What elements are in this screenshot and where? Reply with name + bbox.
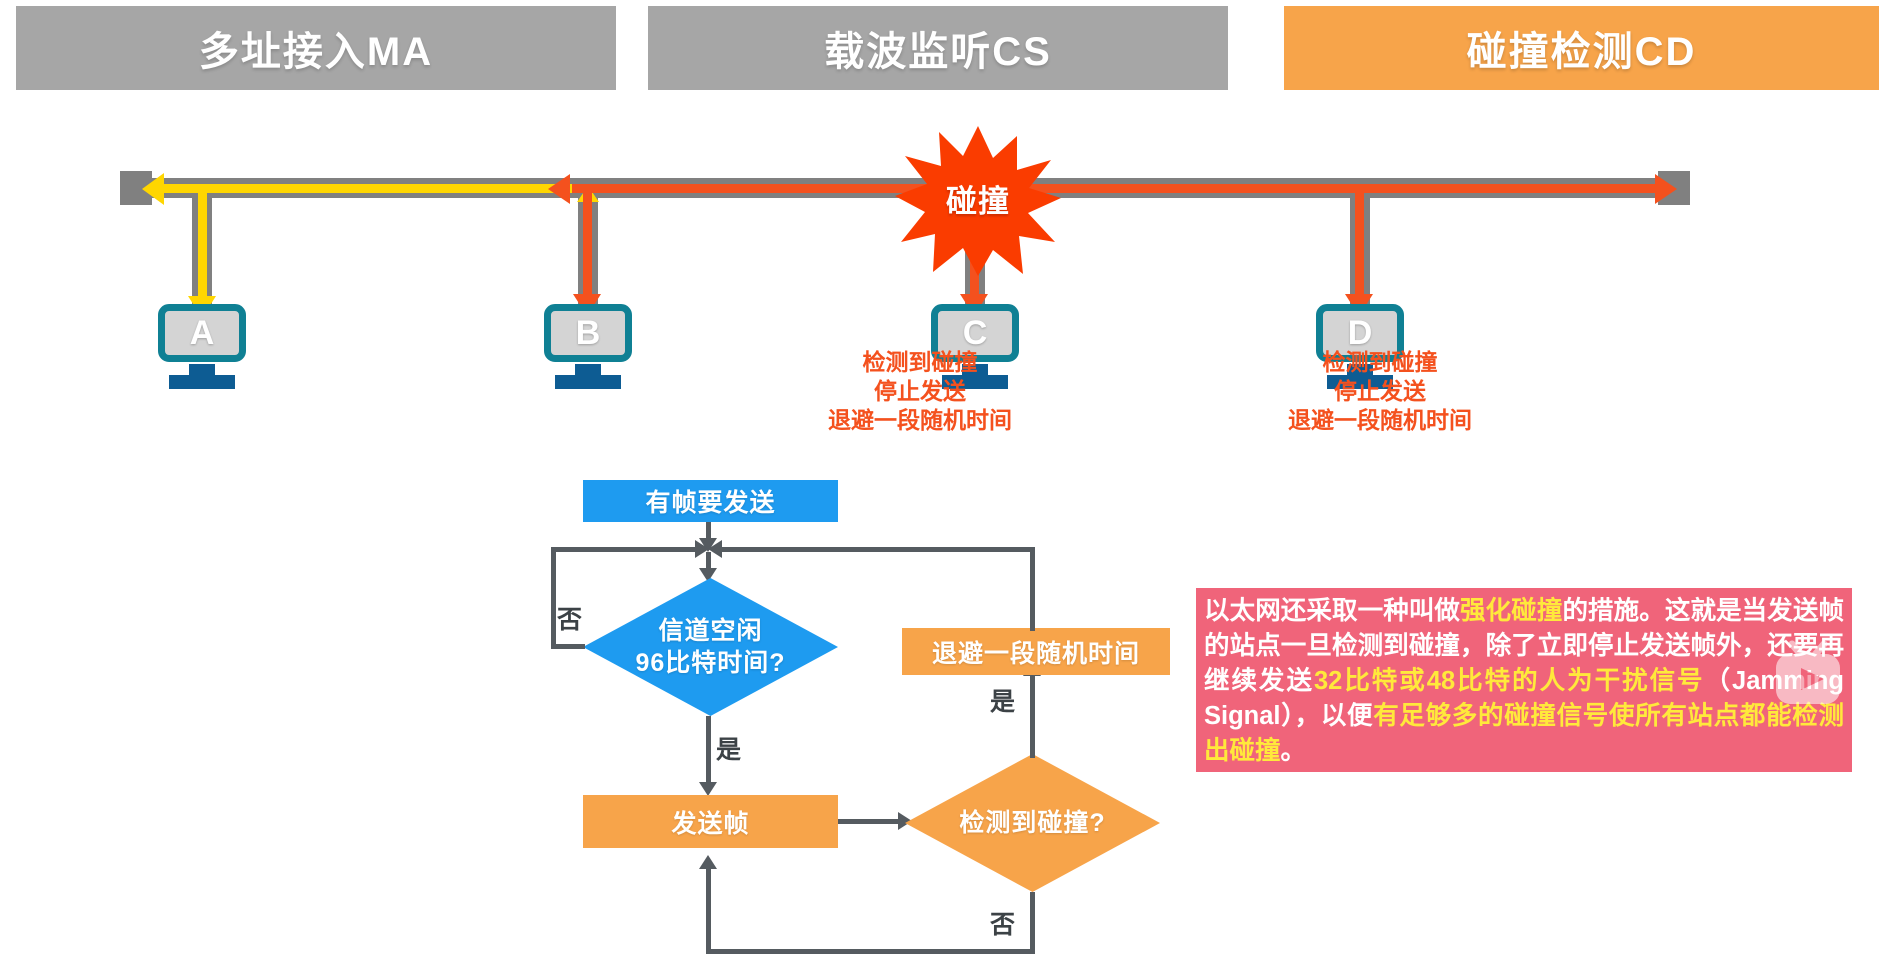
annotation-right-line-3: 退避一段随机时间	[1230, 406, 1530, 435]
flow-conn-backoff-up	[1030, 547, 1035, 631]
collision-label: 碰撞	[895, 176, 1061, 221]
flow-arrow-back-to-send	[699, 855, 717, 869]
flow-conn-no-collision-bottom	[706, 949, 1035, 954]
annotation-left-line-1: 检测到碰撞	[770, 348, 1070, 377]
flow-conn-collision-up	[1030, 672, 1035, 758]
flow-conn-send-right	[838, 819, 903, 824]
collision-burst: 碰撞	[895, 126, 1061, 276]
station-b[interactable]: B	[544, 304, 632, 389]
flow-label-yes-collision: 是	[990, 682, 1015, 718]
flow-arrow-backoff-rejoin	[708, 540, 722, 558]
flow-decision-collision[interactable]: 检测到碰撞?	[905, 754, 1160, 892]
info-seg-3-highlight: 32比特或48比特的人为干扰信号	[1314, 667, 1705, 695]
info-panel-paragraph: 以太网还采取一种叫做强化碰撞的措施。这就是当发送帧的站点一旦检测到碰撞，除了立即…	[1204, 594, 1844, 769]
annotation-left-line-2: 停止发送	[770, 377, 1070, 406]
flow-conn-backoff-top	[716, 547, 1035, 552]
flow-backoff-box[interactable]: 退避一段随机时间	[902, 628, 1170, 675]
annotation-right-line-2: 停止发送	[1230, 377, 1530, 406]
flow-start-box[interactable]: 有帧要发送	[583, 480, 838, 522]
station-a-label: A	[190, 314, 215, 353]
flow-conn-no-collision-down	[1030, 892, 1035, 954]
flow-conn-no-up	[551, 547, 556, 649]
station-a-neck	[189, 364, 215, 375]
flow-conn-no-top	[551, 547, 701, 552]
annotation-right: 检测到碰撞 停止发送 退避一段随机时间	[1230, 348, 1530, 435]
annotation-right-line-1: 检测到碰撞	[1230, 348, 1530, 377]
station-b-label: B	[576, 314, 601, 353]
station-c-label: C	[963, 314, 988, 353]
flow-send-frame-box[interactable]: 发送帧	[583, 795, 838, 848]
flow-conn-no-left	[551, 644, 585, 649]
flow-label-no-idle: 否	[557, 600, 582, 636]
station-b-base	[555, 375, 621, 389]
banner-carrier-sense: 载波监听CS	[648, 6, 1228, 90]
flow-decision-collision-label: 检测到碰撞?	[959, 807, 1105, 839]
station-b-screen: B	[544, 304, 632, 362]
flow-conn-no-collision-up	[706, 865, 711, 953]
info-panel: 以太网还采取一种叫做强化碰撞的措施。这就是当发送帧的站点一旦检测到碰撞，除了立即…	[1196, 588, 1852, 772]
flow-label-yes-idle: 是	[716, 730, 741, 766]
flow-decision-collision-text: 检测到碰撞?	[905, 754, 1160, 892]
banner-multiple-access: 多址接入MA	[16, 6, 616, 90]
info-seg-6: 。	[1281, 737, 1307, 765]
flow-arrow-no-rejoin	[695, 540, 709, 558]
station-a-screen: A	[158, 304, 246, 362]
station-a-base	[169, 375, 235, 389]
banner-collision-detection: 碰撞检测CD	[1284, 6, 1879, 90]
flow-conn-yes-down	[706, 716, 711, 788]
flow-decision-idle-text: 信道空闲 96比特时间?	[583, 578, 838, 716]
info-seg-0: 以太网还采取一种叫做	[1204, 597, 1460, 625]
station-a[interactable]: A	[158, 304, 246, 389]
station-b-neck	[575, 364, 601, 375]
flow-decision-idle[interactable]: 信道空闲 96比特时间?	[583, 578, 838, 716]
flow-decision-idle-line1: 信道空闲	[658, 615, 762, 647]
flow-label-no-collision: 否	[990, 905, 1015, 941]
annotation-left-line-3: 退避一段随机时间	[770, 406, 1070, 435]
flow-arrow-into-send	[699, 782, 717, 796]
info-seg-1-highlight: 强化碰撞	[1460, 597, 1562, 625]
flow-decision-idle-line2: 96比特时间?	[635, 647, 785, 679]
bilibili-tv-logo-icon	[1768, 638, 1848, 716]
station-d-label: D	[1348, 314, 1373, 353]
annotation-left: 检测到碰撞 停止发送 退避一段随机时间	[770, 348, 1070, 435]
